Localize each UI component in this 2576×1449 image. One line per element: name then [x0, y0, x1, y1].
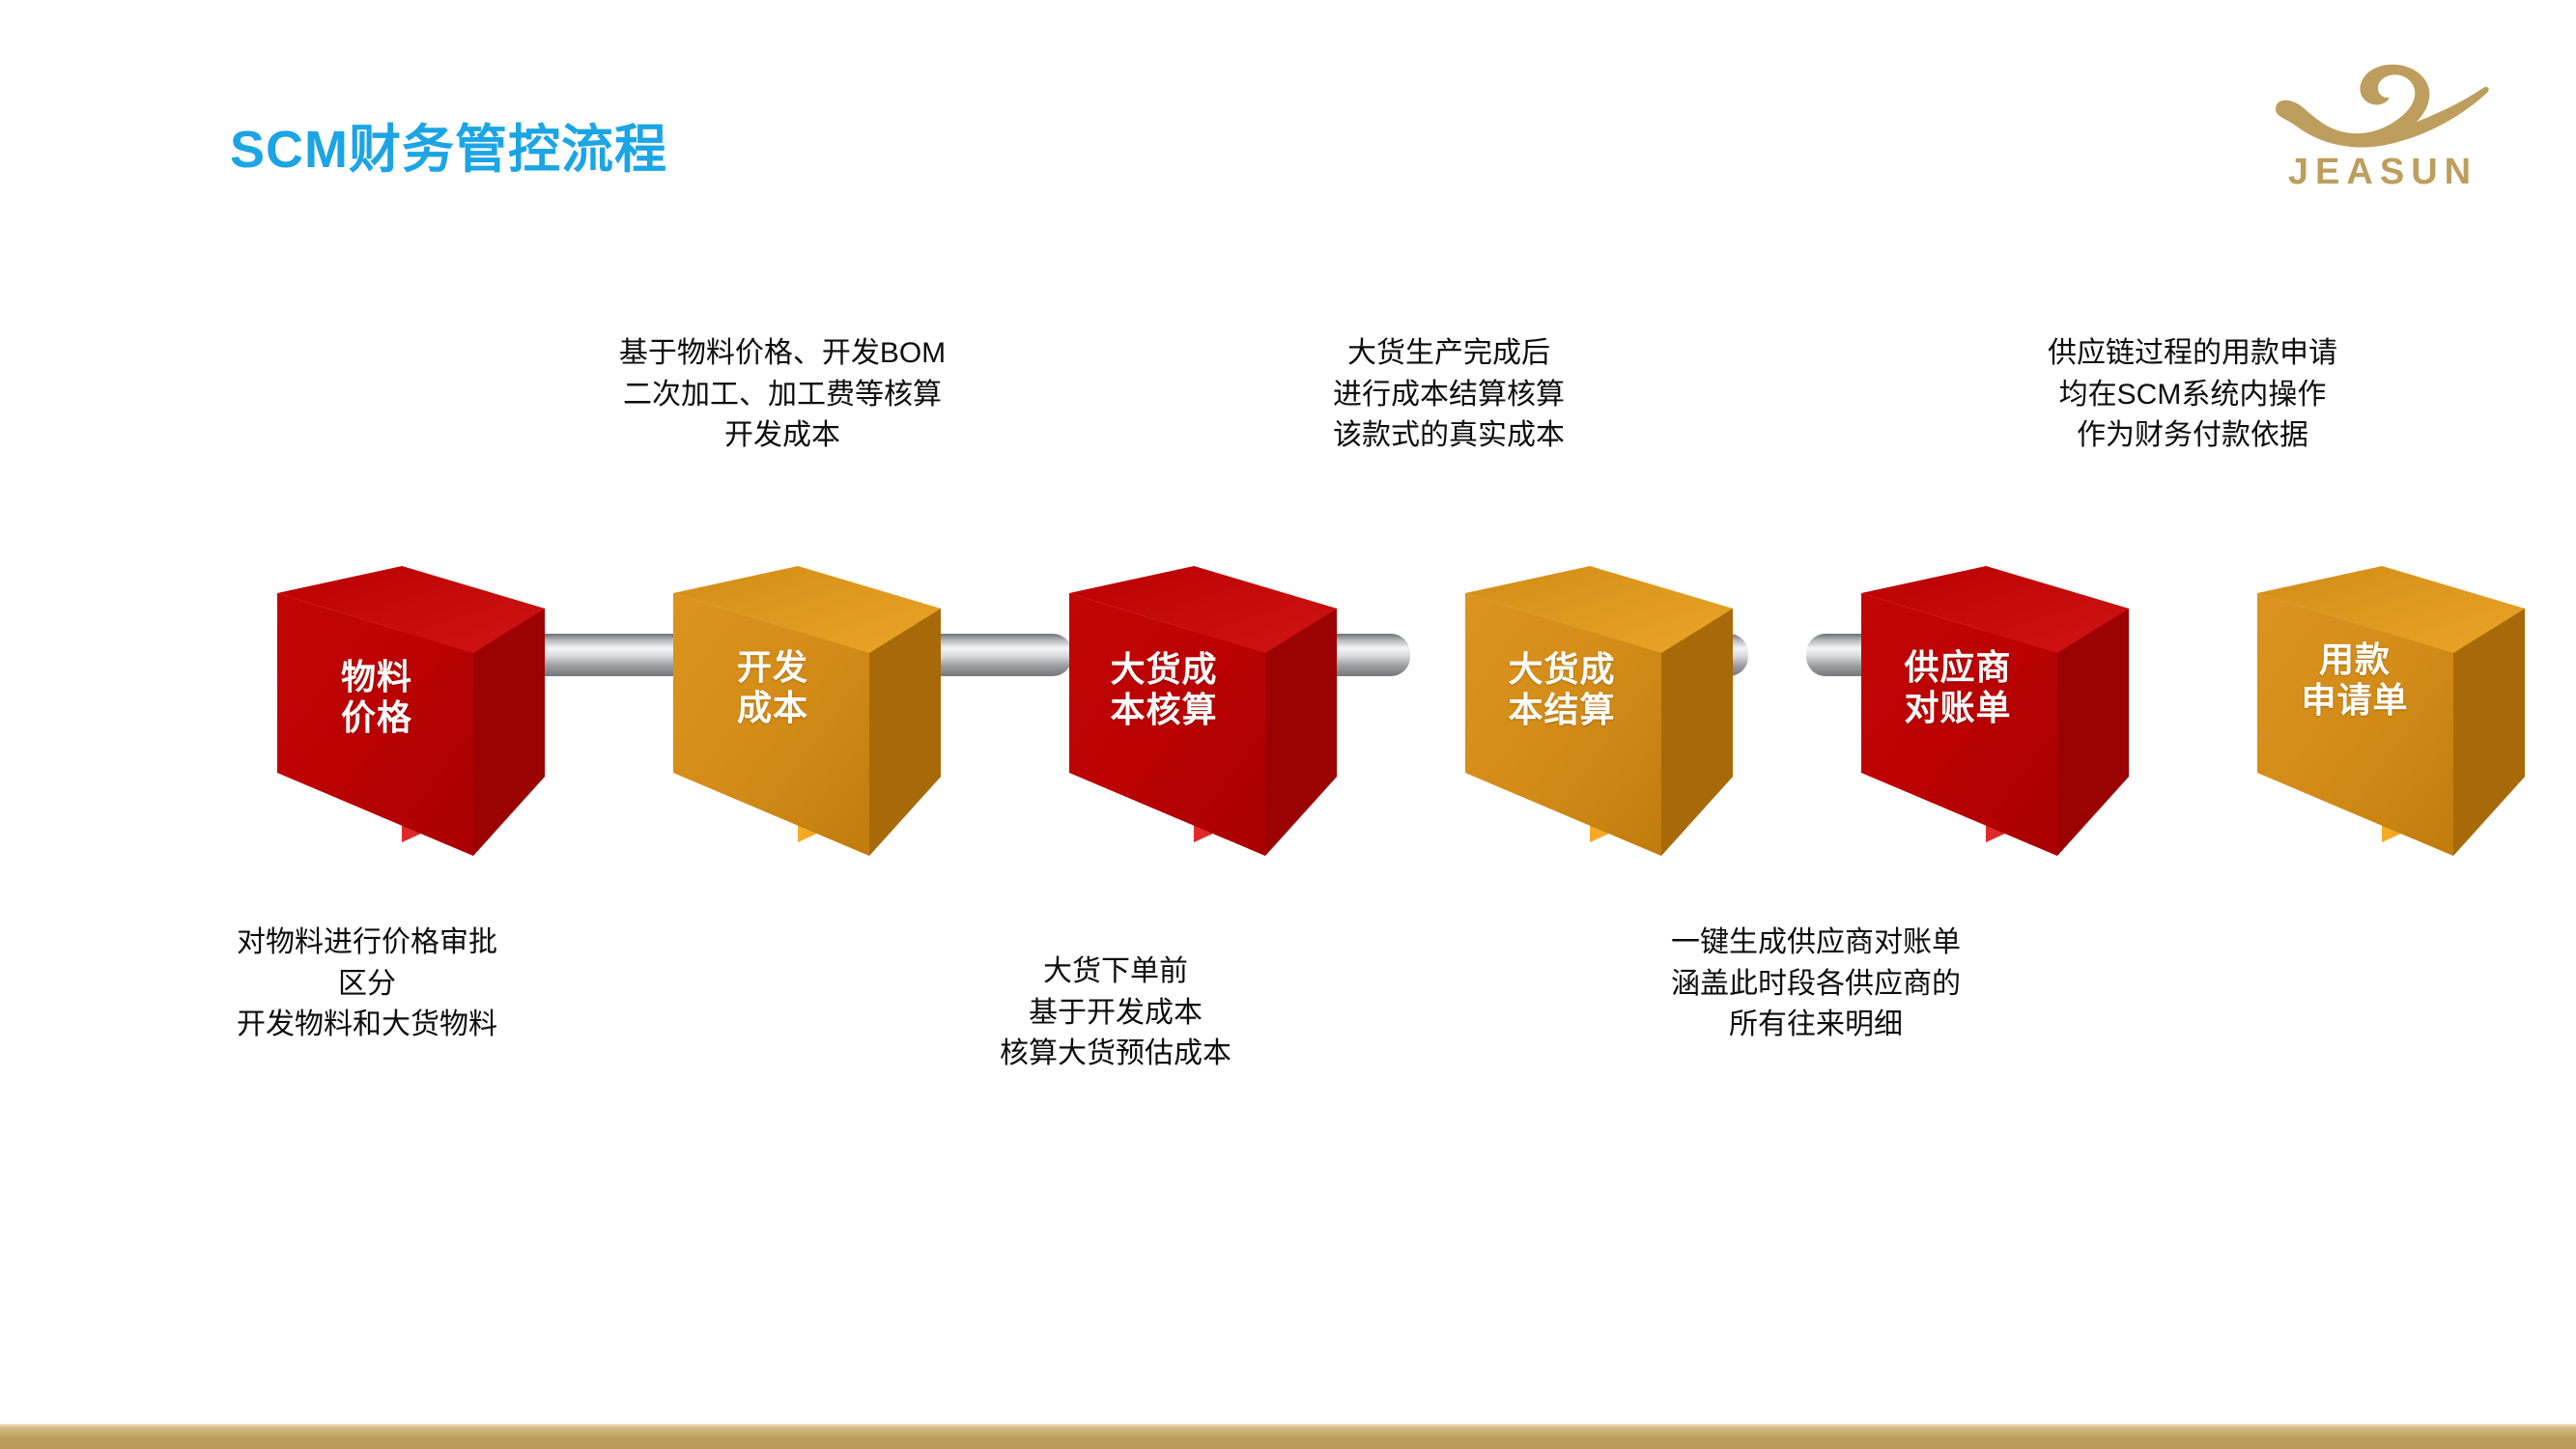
cube-label-line: 用款	[2250, 639, 2459, 680]
note-line: 作为财务付款依据	[1922, 415, 2463, 457]
cube-label-line: 成本	[673, 688, 872, 728]
cube-label-line: 物料	[275, 657, 478, 697]
note-top-development-cost: 基于物料价格、开发BOM 二次加工、加工费等核算 开发成本	[483, 333, 1082, 457]
cube-label-bulk-cost-settlement: 大货成 本结算	[1458, 649, 1666, 731]
note-line: 大货下单前	[874, 952, 1357, 993]
brand-logo: JEASUN	[2262, 43, 2504, 203]
cube-label-payment-request: 用款 申请单	[2250, 639, 2459, 722]
note-line: 开发成本	[483, 415, 1082, 457]
note-line: 均在SCM系统内操作	[1922, 375, 2463, 416]
cube-label-bulk-cost-accounting: 大货成 本核算	[1060, 649, 1268, 731]
note-line: 一键生成供应商对账单	[1565, 923, 2067, 964]
cube-label-line: 供应商	[1854, 647, 2062, 688]
note-line: 大货生产完成后	[1198, 333, 1700, 375]
note-line: 涵盖此时段各供应商的	[1565, 964, 2067, 1006]
cube-label-line: 本结算	[1458, 690, 1666, 730]
footer-accent-band	[0, 1424, 2576, 1449]
cube-label-line: 价格	[275, 697, 478, 738]
note-bottom-bulk-cost: 大货下单前 基于开发成本 核算大货预估成本	[874, 952, 1357, 1075]
note-line: 核算大货预估成本	[874, 1034, 1357, 1075]
cube-label-line: 开发	[673, 647, 872, 688]
note-bottom-material-price: 对物料进行价格审批 区分 开发物料和大货物料	[126, 923, 609, 1046]
cube-label-supplier-statement: 供应商 对账单	[1854, 647, 2062, 729]
note-line: 开发物料和大货物料	[126, 1005, 609, 1046]
cube-label-material-price: 物料 价格	[275, 657, 478, 739]
note-line: 对物料进行价格审批	[126, 923, 609, 964]
page-title: SCM财务管控流程	[230, 124, 667, 176]
note-top-bulk-settlement: 大货生产完成后 进行成本结算核算 该款式的真实成本	[1198, 333, 1700, 457]
cube-label-line: 大货成	[1060, 649, 1268, 690]
note-line: 供应链过程的用款申请	[1922, 333, 2463, 375]
cube-label-line: 大货成	[1458, 649, 1666, 690]
cube-label-development-cost: 开发 成本	[673, 647, 872, 729]
note-line: 二次加工、加工费等核算	[483, 375, 1082, 416]
note-bottom-supplier-statement: 一键生成供应商对账单 涵盖此时段各供应商的 所有往来明细	[1565, 923, 2067, 1046]
note-line: 该款式的真实成本	[1198, 415, 1700, 457]
cube-label-line: 对账单	[1854, 688, 2062, 728]
note-line: 进行成本结算核算	[1198, 375, 1700, 416]
note-line: 区分	[126, 964, 609, 1006]
note-line: 所有往来明细	[1565, 1005, 2067, 1046]
swoosh-logo-icon	[2262, 43, 2504, 159]
note-line: 基于物料价格、开发BOM	[483, 333, 1082, 375]
cube-label-line: 本核算	[1060, 690, 1268, 730]
note-line: 基于开发成本	[874, 993, 1357, 1035]
logo-wordmark: JEASUN	[2262, 152, 2504, 193]
cube-label-line: 申请单	[2250, 680, 2459, 721]
note-top-payment-request: 供应链过程的用款申请 均在SCM系统内操作 作为财务付款依据	[1922, 333, 2463, 457]
